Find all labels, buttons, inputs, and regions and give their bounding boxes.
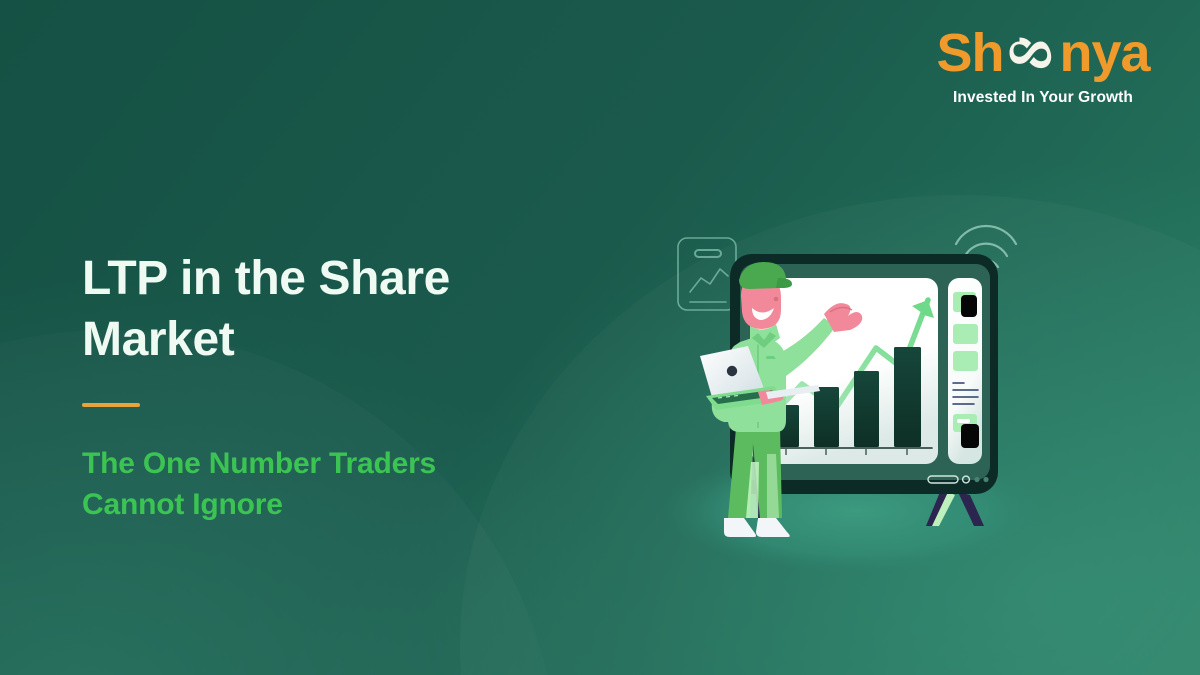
- bar-4: [894, 347, 921, 447]
- logo-wordmark: Sh nya: [932, 26, 1154, 80]
- bar-2: [814, 387, 839, 447]
- page-subtitle: The One Number Traders Cannot Ignore: [82, 443, 602, 525]
- infinity-icon: [1004, 31, 1058, 75]
- panel-thumb-2: [961, 424, 979, 448]
- panel-block-3: [953, 351, 978, 371]
- hero-copy: LTP in the Share Market The One Number T…: [82, 248, 602, 525]
- chart-card-icon: [678, 238, 736, 310]
- page-title: LTP in the Share Market: [82, 248, 602, 371]
- logo-prefix: Sh: [936, 26, 1003, 80]
- brand-logo[interactable]: Sh nya Invested In Your Growth: [932, 26, 1154, 107]
- panel-thumb-1: [961, 295, 977, 317]
- subheadline-line-1: The One Number Traders: [82, 447, 436, 480]
- brand-tagline: Invested In Your Growth: [932, 89, 1154, 107]
- headline-line-2: Market: [82, 313, 234, 366]
- side-panel: [948, 278, 982, 464]
- bar-3: [854, 371, 879, 447]
- accent-divider: [82, 403, 140, 407]
- panel-block-2: [953, 324, 978, 344]
- headline-line-1: LTP in the Share: [82, 252, 450, 305]
- subheadline-line-2: Cannot Ignore: [82, 488, 283, 521]
- logo-suffix: nya: [1059, 26, 1149, 80]
- promo-banner: Sh nya Invested In Your Growth LTP in th…: [0, 0, 1200, 675]
- hero-illustration: [640, 196, 1100, 596]
